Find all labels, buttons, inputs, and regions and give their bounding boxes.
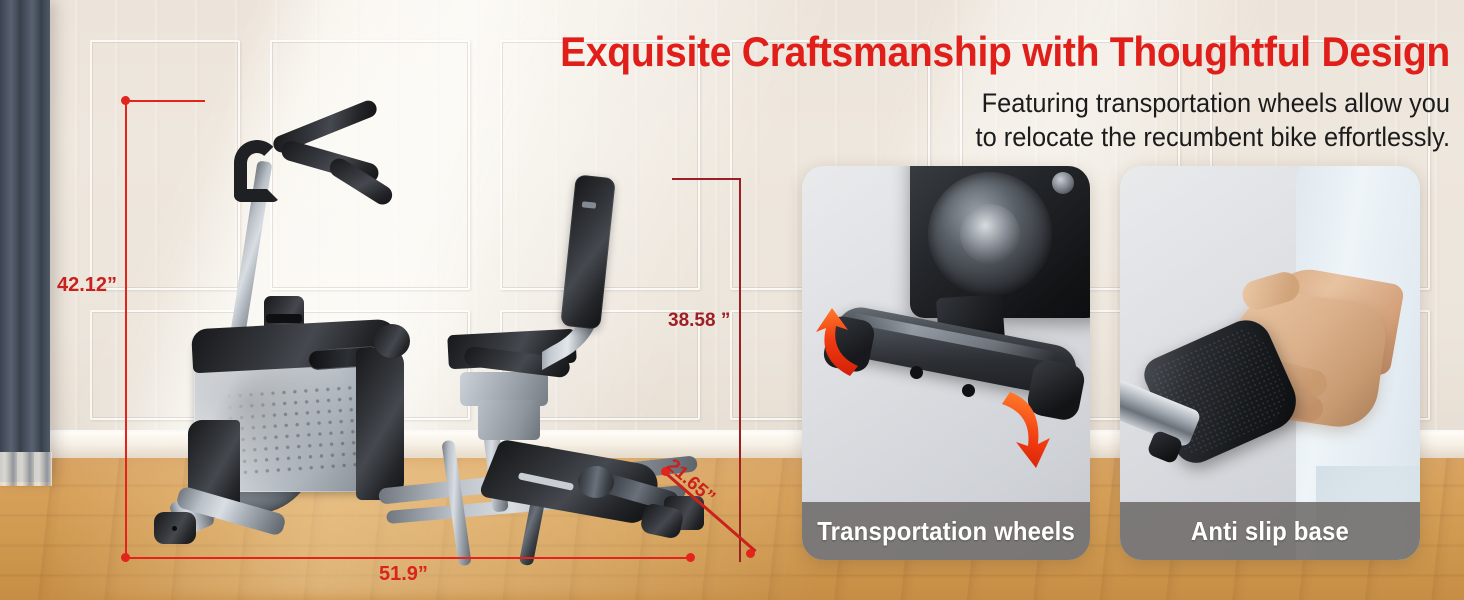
dimension-height-label: 42.12” — [57, 274, 117, 297]
dimension-depth-end-dot — [746, 549, 755, 558]
bike-bottle-holder-strap — [266, 314, 302, 323]
feature-card-anti-slip-base[interactable]: Anti slip base — [1120, 166, 1420, 560]
feature-caption-label: Transportation wheels — [817, 516, 1075, 547]
dimension-height-line — [125, 100, 127, 562]
photo-frame-bolt — [1052, 172, 1074, 194]
feature-caption-bar: Anti slip base — [1120, 502, 1420, 560]
bike-console-right-skirt — [356, 348, 404, 500]
window-curtain — [0, 0, 50, 482]
recumbent-bike-illustration — [130, 100, 710, 560]
bike-seat-slider-block-2 — [478, 400, 540, 440]
bike-vent-dot-pattern — [223, 381, 375, 477]
dimension-seat-height-top-tick — [672, 178, 740, 180]
dimension-seat-height-line — [739, 178, 741, 562]
bike-crank-hub — [578, 466, 614, 498]
page-title: Exquisite Craftsmanship with Thoughtful … — [501, 28, 1450, 76]
dimension-width-left-dot — [121, 553, 130, 562]
dimension-width-line — [125, 557, 690, 559]
feature-caption-label: Anti slip base — [1191, 516, 1349, 547]
product-feature-banner: Exquisite Craftsmanship with Thoughtful … — [0, 0, 1464, 600]
dimension-width-right-dot — [686, 553, 695, 562]
photo-flywheel-hub — [960, 204, 1020, 264]
feature-card-transportation-wheels[interactable]: Transportation wheels — [802, 166, 1090, 560]
dimension-width-label: 51.9” — [379, 563, 428, 586]
bike-handlebar-loop-left — [234, 140, 280, 202]
feature-caption-bar: Transportation wheels — [802, 502, 1090, 560]
bike-resistance-knob — [374, 324, 410, 358]
dimension-height-top-tick — [125, 100, 205, 102]
bike-front-foot-cap-dot — [172, 526, 177, 531]
rotation-arrow-upper-left-icon — [810, 306, 874, 382]
rotation-arrow-lower-right-icon — [998, 388, 1068, 474]
curtain-hem — [0, 452, 52, 486]
dimension-seat-height-label: 38.58 ” — [668, 310, 730, 332]
